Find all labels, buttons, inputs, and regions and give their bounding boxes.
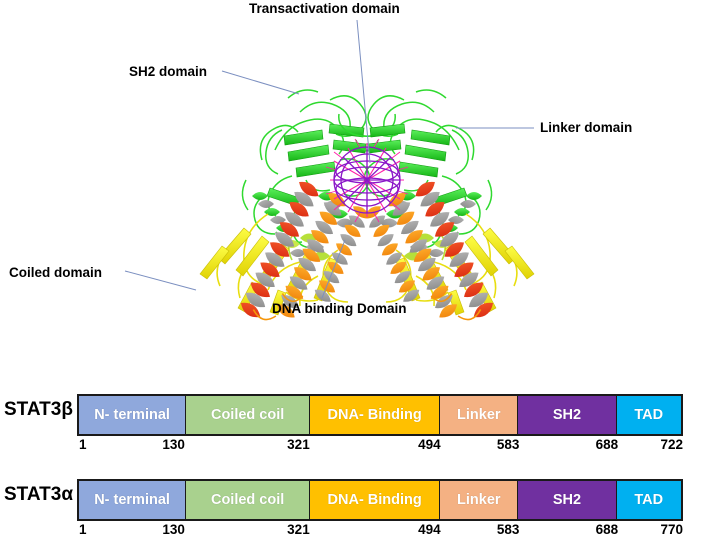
residue-tick: 583 <box>497 522 520 537</box>
residue-tick: 130 <box>162 522 185 537</box>
residue-tick: 321 <box>287 437 310 452</box>
protein-structure-image <box>0 0 714 380</box>
domain-segment-label: SH2 <box>553 407 581 423</box>
residue-tick: 688 <box>596 437 619 452</box>
domain-segment-label: TAD <box>634 492 663 508</box>
domain-segment-dna-binding[interactable]: DNA- Binding <box>310 396 440 434</box>
sh2-domain-label: SH2 domain <box>129 64 207 79</box>
domain-segment-label: N- terminal <box>94 492 170 508</box>
residue-tick: 494 <box>418 522 441 537</box>
leader-coiled <box>125 271 196 290</box>
domain-segment-tad[interactable]: TAD <box>617 396 681 434</box>
dna-binding-domain-label: DNA binding Domain <box>272 301 407 316</box>
domain-segment-label: Coiled coil <box>211 407 284 423</box>
residue-tick: 722 <box>660 437 683 452</box>
domain-segment-label: Linker <box>457 492 501 508</box>
domain-segment-label: DNA- Binding <box>328 407 422 423</box>
domain-segment-linker[interactable]: Linker <box>440 396 518 434</box>
residue-tick: 1 <box>79 437 87 452</box>
coiled-domain-label: Coiled domain <box>9 265 102 280</box>
domain-segment-label: TAD <box>634 407 663 423</box>
linker-domain-label: Linker domain <box>540 120 632 135</box>
domain-segment-label: SH2 <box>553 492 581 508</box>
residue-tick: 688 <box>596 522 619 537</box>
isoform-label-stat3-alpha: STAT3α <box>4 484 74 506</box>
domain-segment-label: Linker <box>457 407 501 423</box>
tick-row-stat3-alpha: 1130321494583688770 <box>77 522 683 542</box>
isoform-stat3-alpha: STAT3α N- terminalCoiled coilDNA- Bindin… <box>0 470 714 540</box>
transactivation-domain-label: Transactivation domain <box>249 1 400 16</box>
residue-tick: 770 <box>660 522 683 537</box>
domain-segment-dna-binding[interactable]: DNA- Binding <box>310 481 440 519</box>
domain-segment-n-terminal[interactable]: N- terminal <box>79 396 186 434</box>
leader-transactivation <box>357 20 370 163</box>
domain-segment-linker[interactable]: Linker <box>440 481 518 519</box>
domain-segment-label: Coiled coil <box>211 492 284 508</box>
domain-segment-coiled-coil[interactable]: Coiled coil <box>186 481 310 519</box>
domain-segment-label: DNA- Binding <box>328 492 422 508</box>
domain-bar-stat3-beta: N- terminalCoiled coilDNA- BindingLinker… <box>77 394 683 436</box>
domain-segment-sh2[interactable]: SH2 <box>518 481 616 519</box>
domain-segment-n-terminal[interactable]: N- terminal <box>79 481 186 519</box>
domain-bar-stat3-alpha: N- terminalCoiled coilDNA- BindingLinker… <box>77 479 683 521</box>
isoform-label-stat3-beta: STAT3β <box>4 399 74 421</box>
domain-segment-label: N- terminal <box>94 407 170 423</box>
residue-tick: 494 <box>418 437 441 452</box>
residue-tick: 130 <box>162 437 185 452</box>
residue-tick: 321 <box>287 522 310 537</box>
tick-row-stat3-beta: 1130321494583688722 <box>77 437 683 457</box>
domain-segment-sh2[interactable]: SH2 <box>518 396 616 434</box>
leader-sh2 <box>222 71 299 94</box>
domain-segment-coiled-coil[interactable]: Coiled coil <box>186 396 310 434</box>
domain-segment-tad[interactable]: TAD <box>617 481 681 519</box>
isoform-stat3-beta: STAT3β N- terminalCoiled coilDNA- Bindin… <box>0 385 714 455</box>
residue-tick: 583 <box>497 437 520 452</box>
stat3-figure: Transactivation domain SH2 domain Linker… <box>0 0 714 536</box>
residue-tick: 1 <box>79 522 87 537</box>
